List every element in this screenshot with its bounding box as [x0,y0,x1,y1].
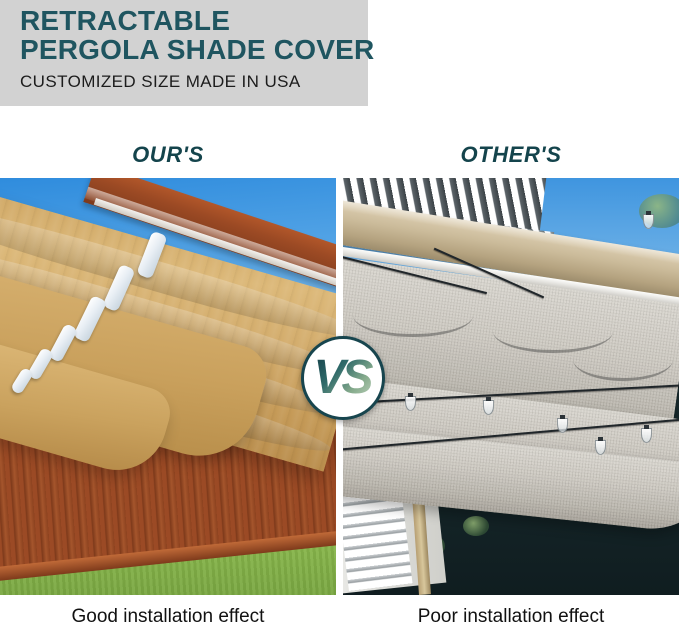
header-banner: RETRACTABLE PERGOLA SHADE COVER CUSTOMIZ… [0,0,368,106]
left-photo-caption: Good installation effect [0,606,336,628]
right-photo-caption: Poor installation effect [343,606,679,628]
leaf-cluster [463,516,489,536]
left-column-heading: OUR'S [0,142,336,168]
poor-installation-scene [343,178,679,595]
product-title-line-2: PERGOLA SHADE COVER [20,35,374,65]
product-title-line-1: RETRACTABLE [20,6,230,36]
right-column-heading: OTHER'S [343,142,679,168]
versus-label: VS [313,354,372,402]
good-installation-scene [0,178,336,595]
poor-installation-photo [343,178,679,595]
good-installation-photo [0,178,336,595]
versus-badge: VS [301,336,385,420]
fabric-sag-line [573,338,673,381]
fabric-sag-line [353,294,473,337]
product-subtitle: CUSTOMIZED SIZE MADE IN USA [20,72,301,92]
